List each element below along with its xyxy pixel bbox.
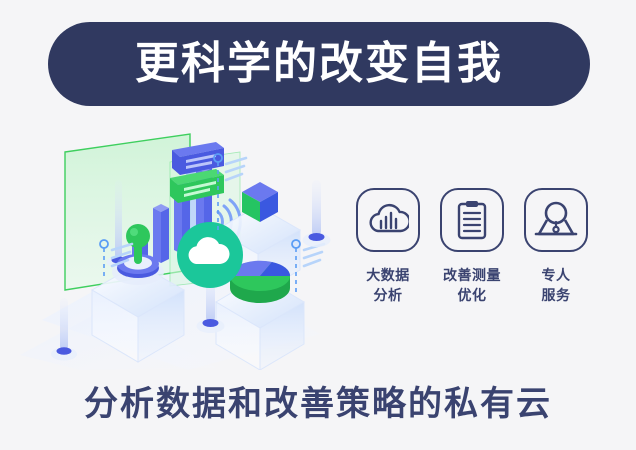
feature-label-line2: 服务	[542, 285, 571, 305]
clipboard-icon	[440, 188, 504, 252]
feature-label-line1: 改善测量	[443, 267, 501, 283]
marker-stem-far-right	[303, 180, 331, 247]
footer-tagline: 分析数据和改善策略的私有云	[0, 386, 636, 423]
feature-label-big-data: 大数据 分析	[366, 265, 410, 306]
feature-list: 大数据 分析 改善测量 优化	[352, 188, 592, 333]
feature-item-support[interactable]: 专人 服务	[520, 188, 592, 306]
headline-banner: 更科学的改变自我	[48, 22, 590, 106]
feature-label-line1: 大数据	[366, 267, 410, 283]
feature-label-line1: 专人	[542, 267, 571, 283]
feature-label-line2: 分析	[366, 285, 410, 305]
hero-illustration	[20, 120, 350, 370]
support-agent-icon	[524, 188, 588, 252]
cloud-bar-chart-icon	[356, 188, 420, 252]
feature-label-support: 专人 服务	[542, 265, 571, 306]
feature-item-big-data[interactable]: 大数据 分析	[352, 188, 424, 306]
feature-item-measurement[interactable]: 改善测量 优化	[436, 188, 508, 306]
feature-label-measurement: 改善测量 优化	[443, 265, 501, 306]
poster-canvas: 更科学的改变自我	[0, 0, 636, 450]
feature-label-line2: 优化	[443, 285, 501, 305]
page-title: 更科学的改变自我	[135, 42, 503, 86]
